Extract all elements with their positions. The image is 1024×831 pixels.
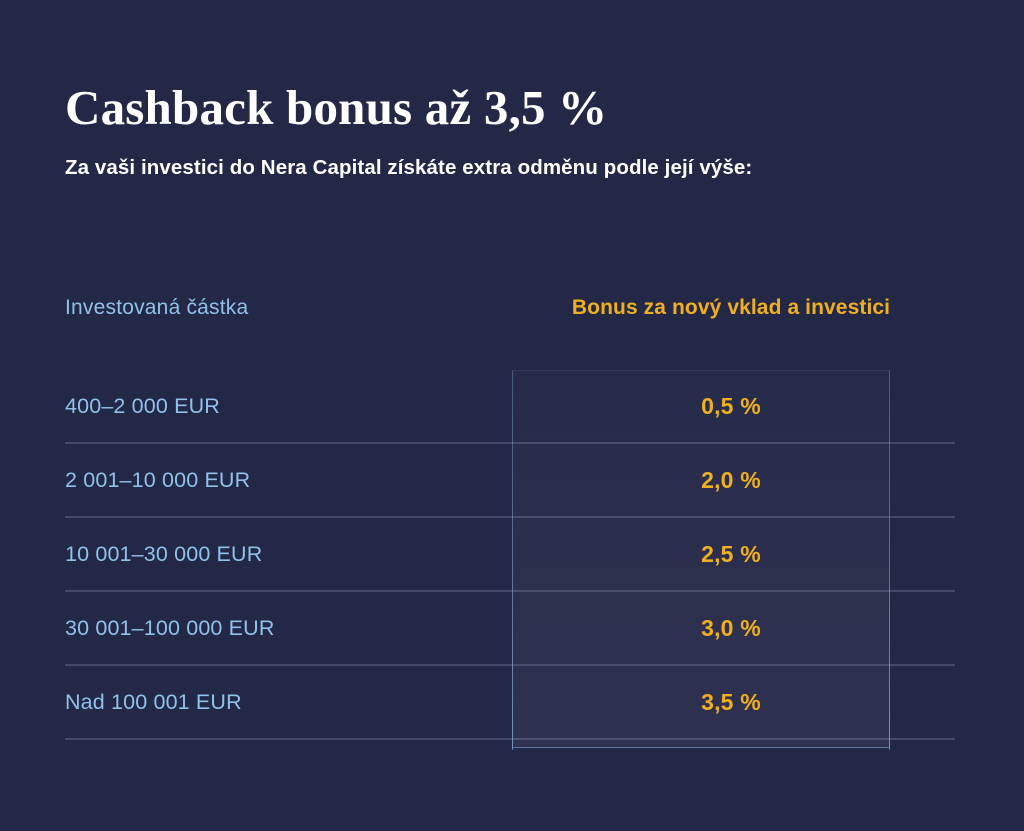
table-row: 10 001–30 000 EUR 2,5 % (65, 518, 955, 592)
page-subtitle: Za vaši investici do Nera Capital získát… (65, 133, 965, 181)
cell-bonus: 3,5 % (512, 689, 955, 716)
cell-amount: 2 001–10 000 EUR (65, 468, 512, 493)
column-header-bonus: Bonus za nový vklad a investici (512, 296, 955, 320)
cashback-tiers-table: Investovaná částka Bonus za nový vklad a… (65, 296, 955, 740)
table-row: Nad 100 001 EUR 3,5 % (65, 666, 955, 740)
cell-bonus: 2,5 % (512, 541, 955, 568)
table-row: 30 001–100 000 EUR 3,0 % (65, 592, 955, 666)
cell-amount: 10 001–30 000 EUR (65, 542, 512, 567)
cell-bonus: 2,0 % (512, 467, 955, 494)
table-body: 400–2 000 EUR 0,5 % 2 001–10 000 EUR 2,0… (65, 370, 955, 740)
cell-bonus: 0,5 % (512, 393, 955, 420)
cell-bonus: 3,0 % (512, 615, 955, 642)
cell-amount: Nad 100 001 EUR (65, 690, 512, 715)
cell-amount: 400–2 000 EUR (65, 394, 512, 419)
page-title: Cashback bonus až 3,5 % (65, 82, 965, 133)
page-header: Cashback bonus až 3,5 % Za vaši investic… (65, 82, 965, 181)
cashback-bonus-page: Cashback bonus až 3,5 % Za vaši investic… (0, 0, 1024, 831)
table-header-row: Investovaná částka Bonus za nový vklad a… (65, 296, 955, 370)
table-row: 2 001–10 000 EUR 2,0 % (65, 444, 955, 518)
column-header-bonus-label: Bonus za nový vklad a investici (572, 296, 890, 319)
table-row: 400–2 000 EUR 0,5 % (65, 370, 955, 444)
column-header-amount: Investovaná částka (65, 296, 512, 320)
column-header-amount-label: Investovaná částka (65, 296, 248, 319)
cell-amount: 30 001–100 000 EUR (65, 616, 512, 641)
